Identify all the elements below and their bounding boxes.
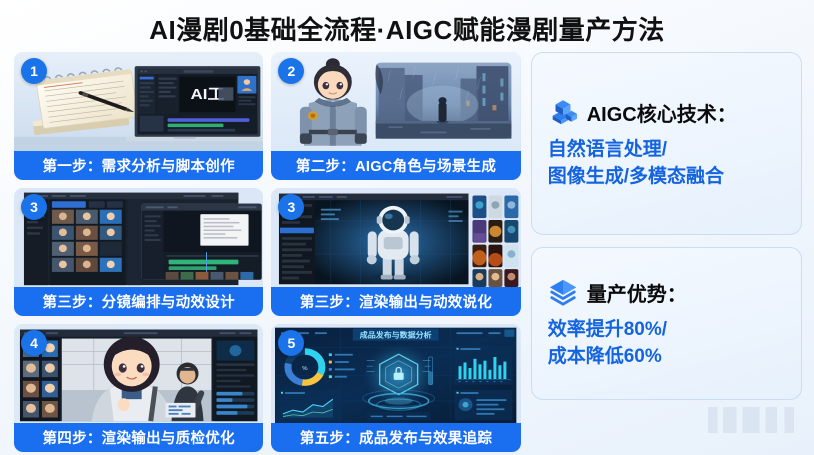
step-3-visual: 3 — [14, 188, 263, 287]
step-3-label: 第三步：分镜编排与动效设计 — [14, 287, 263, 316]
panel-adv-header: 量产优势： — [548, 277, 785, 307]
step-6-visual: 成品发布与数据分析 % — [271, 324, 520, 423]
step-card-grid: AI工 — [14, 52, 521, 452]
svg-text:成品发布与数据分析: 成品发布与数据分析 — [360, 330, 432, 340]
step-card-5[interactable]: 4 第四步：渲染输出与质检优化 — [14, 324, 263, 452]
step-card-2[interactable]: 2 第二步：AIGC角色与场景生成 — [271, 52, 520, 180]
page-header: AI漫剧0基础全流程·AIGC赋能漫剧量产方法 — [0, 0, 814, 52]
panel-adv-line-1: 效率提升80%/ — [548, 317, 785, 343]
step-4-visual: 3 — [271, 188, 520, 287]
step-1-visual: AI工 — [14, 52, 263, 151]
cube-stack-icon — [548, 97, 578, 127]
panel-adv-line-2: 成本降低60% — [548, 344, 785, 370]
svg-text:%: % — [303, 366, 308, 372]
step-4-label: 第三步：渲染输出与动效说化 — [271, 287, 520, 316]
main-content: AI工 — [0, 52, 814, 452]
step-3-badge: 3 — [21, 194, 47, 220]
info-panel-column: AIGC核心技术： 自然语言处理/ 图像生成/多模态融合 量产优势： 效率提升8… — [531, 52, 802, 452]
panel-aigc-core-tech: AIGC核心技术： 自然语言处理/ 图像生成/多模态融合 — [531, 52, 802, 235]
step-5-badge: 4 — [21, 330, 47, 356]
page-title: AI漫剧0基础全流程·AIGC赋能漫剧量产方法 — [149, 10, 665, 47]
layers-icon — [548, 277, 578, 307]
step-2-label: 第二步：AIGC角色与场景生成 — [271, 151, 520, 180]
panel-adv-title: 量产优势： — [587, 278, 687, 307]
panel-tech-line-1: 自然语言处理/ — [548, 137, 785, 163]
step-5-visual: 4 — [14, 324, 263, 423]
step-6-label: 第五步：成品发布与效果追踪 — [271, 423, 520, 452]
panel-production-advantage: 量产优势： 效率提升80%/ 成本降低60% — [531, 247, 802, 400]
step-1-badge: 1 — [21, 58, 47, 84]
step-card-4[interactable]: 3 第三步：渲染输出与动效说化 — [271, 188, 520, 316]
panel-tech-title: AIGC核心技术： — [587, 98, 737, 127]
step-card-1[interactable]: AI工 — [14, 52, 263, 180]
panel-tech-header: AIGC核心技术： — [548, 97, 785, 127]
step-2-visual: 2 — [271, 52, 520, 151]
step-1-label: 第一步：需求分析与脚本创作 — [14, 151, 263, 180]
step-card-3[interactable]: 3 第三步：分镜编排与动效设计 — [14, 188, 263, 316]
step-5-label: 第四步：渲染输出与质检优化 — [14, 423, 263, 452]
panel-tech-line-2: 图像生成/多模态融合 — [548, 164, 785, 190]
step-card-6[interactable]: 成品发布与数据分析 % — [271, 324, 520, 452]
